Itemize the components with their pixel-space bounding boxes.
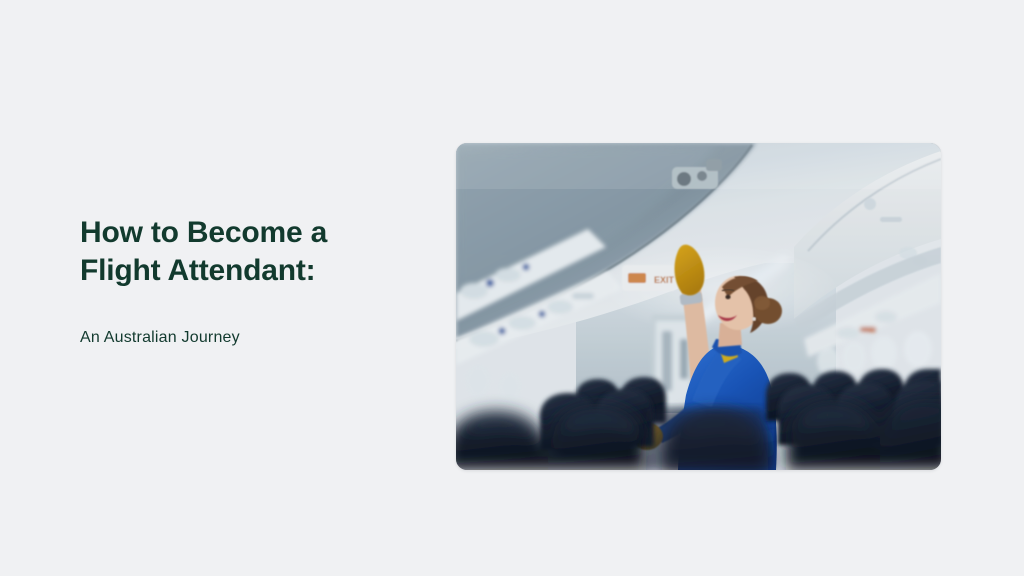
cabin-photo-illustration: EXIT	[456, 143, 941, 470]
text-column: How to Become a Flight Attendant: An Aus…	[80, 214, 410, 350]
slide-canvas: How to Become a Flight Attendant: An Aus…	[0, 0, 1024, 576]
cabin-photo: EXIT	[456, 143, 941, 470]
page-title: How to Become a Flight Attendant:	[80, 214, 410, 290]
page-subtitle: An Australian Journey	[80, 290, 410, 350]
